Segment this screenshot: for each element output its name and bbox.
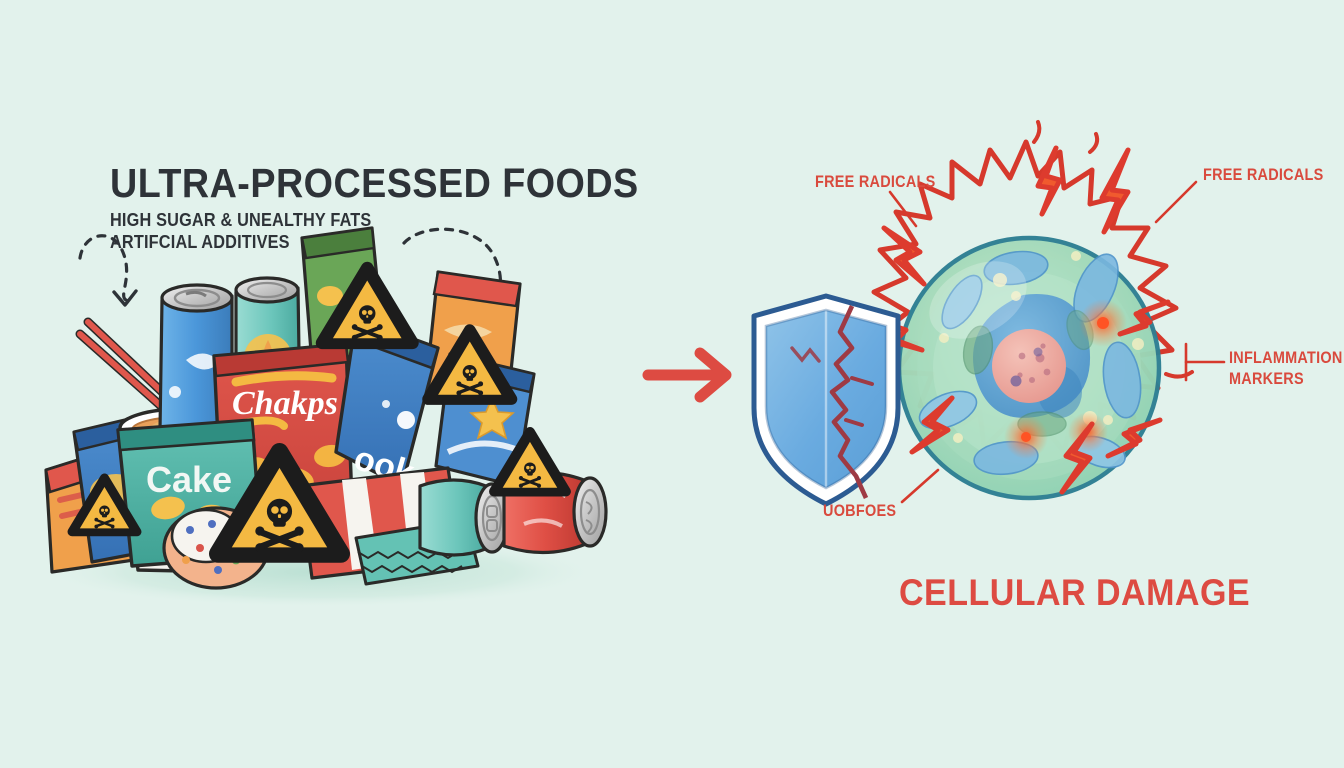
infographic-canvas: Chakps ook: [0, 0, 1344, 768]
inflammation-line-2: MARKERS: [1229, 369, 1304, 388]
nucleolus: [992, 329, 1066, 403]
cellular-damage-title: CELLULAR DAMAGE: [899, 572, 1250, 614]
label-free-radicals-left: FREE RADICALS: [815, 172, 936, 192]
broken-shield-icon: [754, 296, 898, 504]
subtitle-line-1: HIGH SUGAR & UNEALTHY FATS: [110, 209, 371, 231]
inflammation-line-1: INFLAMMATION: [1229, 348, 1343, 367]
subtitle-line-2: ARTIFCIAL ADDITIVES: [110, 231, 290, 253]
chip-bag-teal-label: Cake: [146, 459, 232, 500]
label-free-radicals-right: FREE RADICALS: [1203, 165, 1324, 185]
illustration-svg: Chakps ook: [0, 0, 1344, 768]
page-title: ULTRA-PROCESSED FOODS: [110, 160, 639, 207]
label-inflammation-markers: INFLAMMATIONMARKERS: [1229, 347, 1343, 389]
label-uobfoes: UOBFOES: [823, 501, 896, 521]
process-arrow-right: [648, 353, 726, 397]
ultra-processed-food-pile: Chakps ook: [46, 228, 606, 588]
chip-bag-red-label: Chakps: [232, 385, 338, 422]
